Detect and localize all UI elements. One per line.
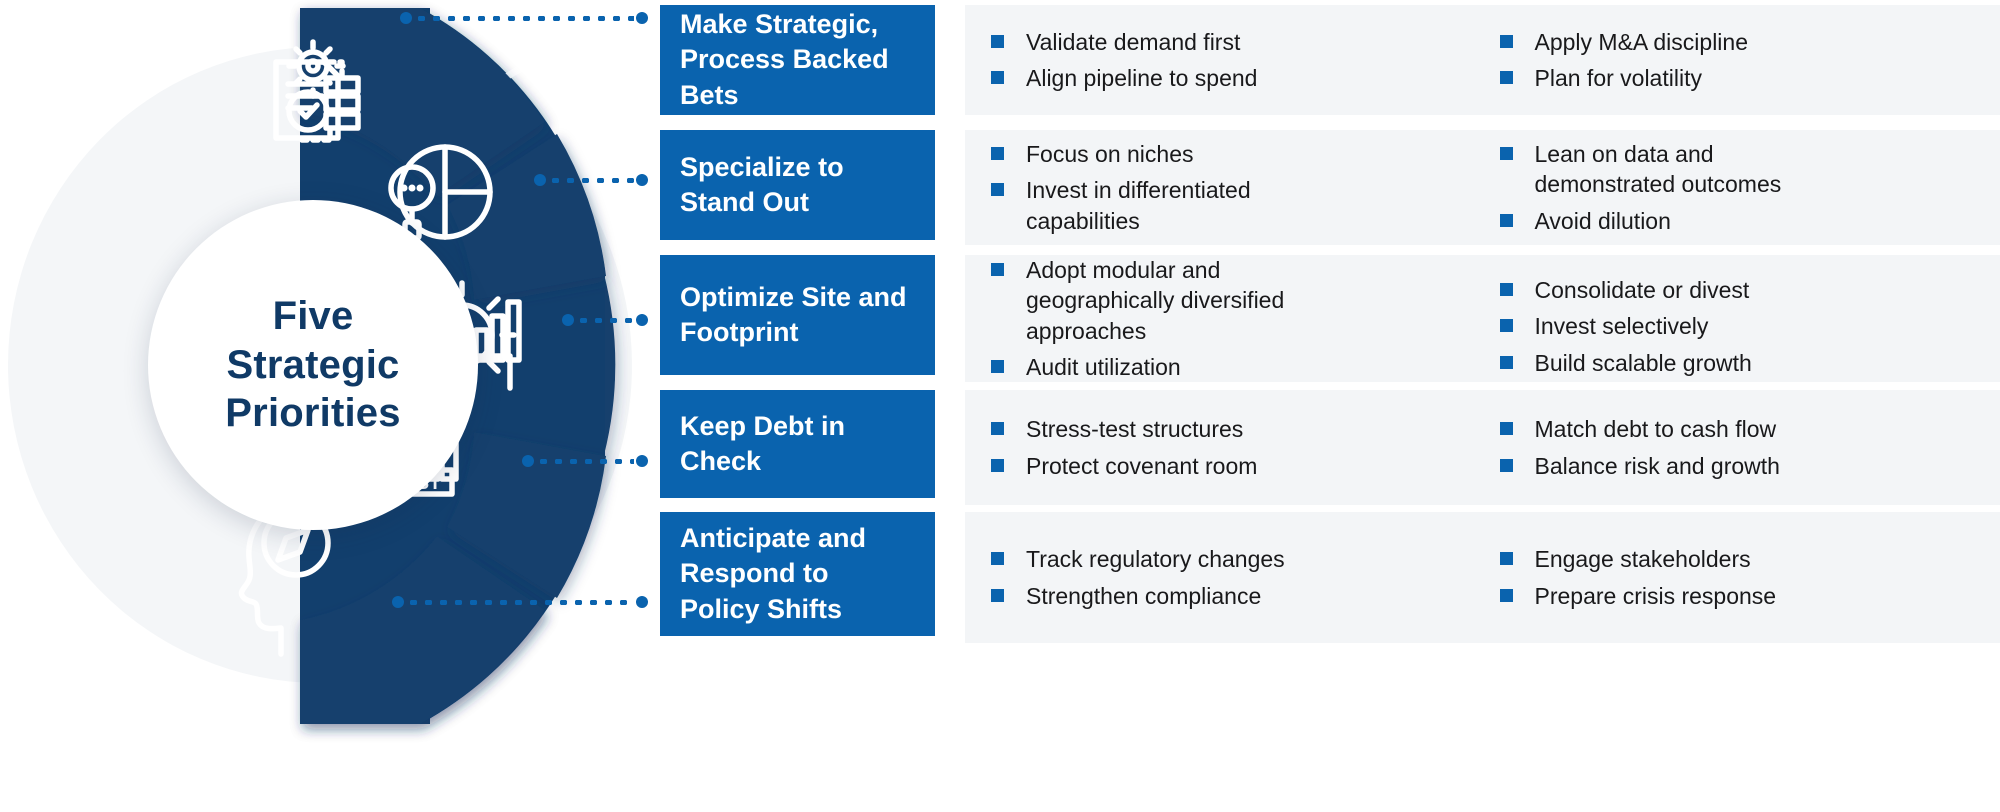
- bullet-square-icon: [991, 263, 1004, 276]
- connector-dot-end-2: [636, 174, 648, 186]
- bullet-item: Prepare crisis response: [1500, 581, 2000, 611]
- bullet-text: Align pipeline to spend: [1026, 63, 1257, 93]
- bullet-item: Validate demand first: [991, 27, 1492, 57]
- bullet-square-icon: [1500, 35, 1513, 48]
- bullet-column-1a: Validate demand first Align pipeline to …: [991, 21, 1492, 100]
- bullet-text: Prepare crisis response: [1535, 581, 1777, 611]
- bullet-text: Adopt modular and geographically diversi…: [1026, 255, 1316, 346]
- bullet-column-2a: Focus on niches Invest in differentiated…: [991, 133, 1492, 242]
- bullet-square-icon: [991, 552, 1004, 565]
- bullet-square-icon: [1500, 552, 1513, 565]
- bullet-text: Validate demand first: [1026, 27, 1240, 57]
- bullet-square-icon: [991, 147, 1004, 160]
- bullet-square-icon: [991, 360, 1004, 373]
- bullet-item: Lean on data and demonstrated outcomes: [1500, 139, 2000, 200]
- priority-bullets-3: Adopt modular and geographically diversi…: [965, 255, 2000, 382]
- connector-dot-start-5: [392, 596, 404, 608]
- priority-title-1[interactable]: Make Strategic, Process Backed Bets: [660, 5, 935, 115]
- bullet-text: Audit utilization: [1026, 352, 1181, 382]
- connector-line-1: [400, 13, 648, 23]
- center-title-line-2: Strategic: [225, 341, 400, 390]
- priority-title-2[interactable]: Specialize to Stand Out: [660, 130, 935, 240]
- infographic-canvas: DEBT Five Strategic Priorities: [0, 0, 2000, 812]
- bullet-item: Track regulatory changes: [991, 544, 1492, 574]
- bullet-column-4a: Stress-test structures Protect covenant …: [991, 408, 1492, 487]
- center-title-line-3: Priorities: [225, 389, 400, 438]
- connector-dot-start-4: [522, 455, 534, 467]
- center-circle: Five Strategic Priorities: [148, 200, 478, 530]
- five-priorities-wheel: DEBT Five Strategic Priorities: [0, 0, 660, 812]
- bullet-item: Strengthen compliance: [991, 581, 1492, 611]
- connector-dot-start-2: [534, 174, 546, 186]
- bullet-square-icon: [991, 422, 1004, 435]
- bullet-text: Focus on niches: [1026, 139, 1193, 169]
- bullet-item: Avoid dilution: [1500, 206, 2000, 236]
- priority-row-4: Keep Debt in Check Stress-test structure…: [660, 390, 2000, 498]
- connector-dot-end-4: [636, 455, 648, 467]
- connector-dashes-3: [576, 318, 634, 323]
- bullet-column-3a: Adopt modular and geographically diversi…: [991, 249, 1492, 388]
- priority-bullets-1: Validate demand first Align pipeline to …: [965, 5, 2000, 115]
- bullet-square-icon: [1500, 214, 1513, 227]
- bullet-item: Apply M&A discipline: [1500, 27, 2000, 57]
- connector-dot-end-5: [636, 596, 648, 608]
- bullet-square-icon: [1500, 589, 1513, 602]
- bullet-text: Balance risk and growth: [1535, 451, 1780, 481]
- bullet-text: Track regulatory changes: [1026, 544, 1285, 574]
- connector-dashes-4: [536, 459, 634, 464]
- connector-line-4: [522, 456, 648, 466]
- center-title: Five Strategic Priorities: [225, 292, 400, 438]
- bullet-text: Invest in differentiated capabilities: [1026, 175, 1316, 236]
- priority-row-2: Specialize to Stand Out Focus on niches …: [660, 130, 2000, 240]
- priority-row-3: Optimize Site and Footprint Adopt modula…: [660, 255, 2000, 375]
- bullet-square-icon: [991, 71, 1004, 84]
- connector-dot-end-1: [636, 12, 648, 24]
- connector-dot-start-3: [562, 314, 574, 326]
- bullet-text: Avoid dilution: [1535, 206, 1671, 236]
- bullet-item: Build scalable growth: [1500, 348, 2000, 378]
- bullet-text: Lean on data and demonstrated outcomes: [1535, 139, 1825, 200]
- connector-line-2: [534, 175, 648, 185]
- bullet-square-icon: [1500, 459, 1513, 472]
- bullet-item: Invest selectively: [1500, 311, 2000, 341]
- bullet-square-icon: [1500, 147, 1513, 160]
- priority-title-3[interactable]: Optimize Site and Footprint: [660, 255, 935, 375]
- bullet-item: Audit utilization: [991, 352, 1492, 382]
- bullet-item: Invest in differentiated capabilities: [991, 175, 1492, 236]
- bullet-item: Engage stakeholders: [1500, 544, 2000, 574]
- bullet-square-icon: [1500, 319, 1513, 332]
- bullet-text: Consolidate or divest: [1535, 275, 1750, 305]
- bullet-square-icon: [1500, 283, 1513, 296]
- bullet-text: Invest selectively: [1535, 311, 1709, 341]
- connector-dashes-5: [406, 600, 634, 605]
- connector-dot-start-1: [400, 12, 412, 24]
- bullet-text: Plan for volatility: [1535, 63, 1702, 93]
- bullet-item: Consolidate or divest: [1500, 275, 2000, 305]
- bullet-text: Build scalable growth: [1535, 348, 1752, 378]
- bullet-item: Stress-test structures: [991, 414, 1492, 444]
- priority-bullets-2: Focus on niches Invest in differentiated…: [965, 130, 2000, 245]
- bullet-item: Balance risk and growth: [1500, 451, 2000, 481]
- bullet-column-1b: Apply M&A discipline Plan for volatility: [1492, 21, 2000, 100]
- priority-title-4[interactable]: Keep Debt in Check: [660, 390, 935, 498]
- bullet-text: Match debt to cash flow: [1535, 414, 1777, 444]
- bullet-column-3b: Consolidate or divest Invest selectively…: [1492, 255, 2000, 384]
- bullet-item: Align pipeline to spend: [991, 63, 1492, 93]
- bullet-column-5b: Engage stakeholders Prepare crisis respo…: [1492, 538, 2000, 617]
- bullet-item: Plan for volatility: [1500, 63, 2000, 93]
- connector-line-3: [562, 315, 648, 325]
- bullet-item: Focus on niches: [991, 139, 1492, 169]
- bullet-item: Protect covenant room: [991, 451, 1492, 481]
- bullet-text: Strengthen compliance: [1026, 581, 1261, 611]
- bullet-item: Match debt to cash flow: [1500, 414, 2000, 444]
- connector-dot-end-3: [636, 314, 648, 326]
- connector-dashes-2: [548, 178, 634, 183]
- center-title-line-1: Five: [225, 292, 400, 341]
- bullet-column-4b: Match debt to cash flow Balance risk and…: [1492, 408, 2000, 487]
- bullet-square-icon: [991, 589, 1004, 602]
- bullet-square-icon: [991, 459, 1004, 472]
- priority-bullets-4: Stress-test structures Protect covenant …: [965, 390, 2000, 505]
- bullet-item: Adopt modular and geographically diversi…: [991, 255, 1492, 346]
- bullet-text: Engage stakeholders: [1535, 544, 1751, 574]
- bullet-column-5a: Track regulatory changes Strengthen comp…: [991, 538, 1492, 617]
- bullet-column-2b: Lean on data and demonstrated outcomes A…: [1492, 133, 2000, 242]
- bullet-text: Stress-test structures: [1026, 414, 1243, 444]
- bullet-text: Protect covenant room: [1026, 451, 1257, 481]
- bullet-square-icon: [1500, 422, 1513, 435]
- priority-title-5[interactable]: Anticipate and Respond to Policy Shifts: [660, 512, 935, 636]
- bullet-square-icon: [1500, 71, 1513, 84]
- bullet-square-icon: [991, 183, 1004, 196]
- priority-bullets-5: Track regulatory changes Strengthen comp…: [965, 512, 2000, 643]
- bullet-text: Apply M&A discipline: [1535, 27, 1749, 57]
- priority-row-5: Anticipate and Respond to Policy Shifts …: [660, 512, 2000, 636]
- priority-row-1: Make Strategic, Process Backed Bets Vali…: [660, 5, 2000, 115]
- connector-dashes-1: [414, 16, 634, 21]
- bullet-square-icon: [1500, 356, 1513, 369]
- connector-line-5: [392, 597, 648, 607]
- bullet-square-icon: [991, 35, 1004, 48]
